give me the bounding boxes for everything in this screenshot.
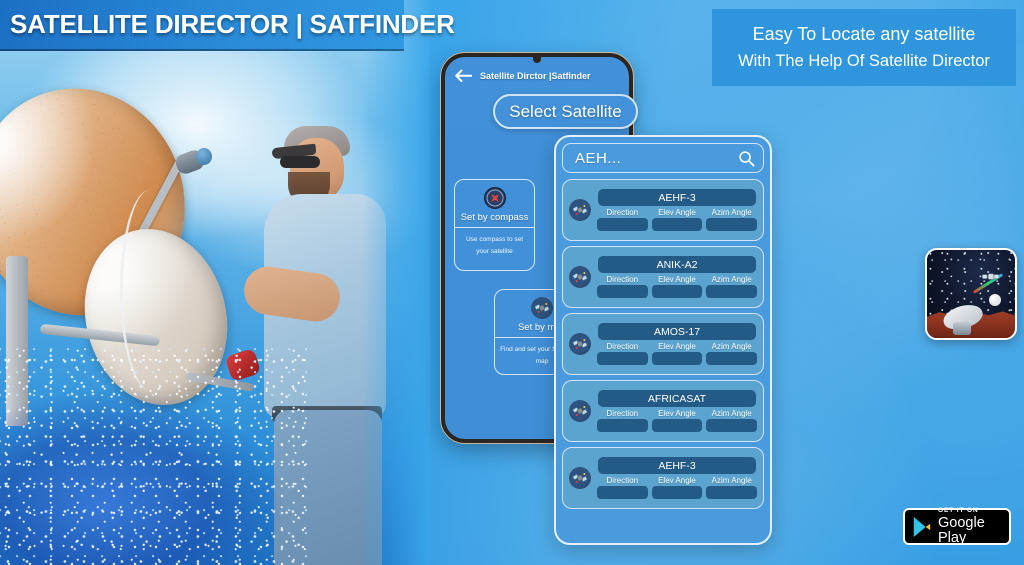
satellite-icon <box>981 270 1001 284</box>
sunglasses <box>280 156 320 168</box>
value-azim-angle <box>706 285 757 298</box>
value-elev-angle <box>652 352 703 365</box>
column-label-azim-angle: Azim Angle <box>706 476 757 485</box>
satellite-column-values <box>597 352 757 365</box>
google-play-icon <box>912 516 932 538</box>
column-label-elev-angle: Elev Angle <box>652 275 703 284</box>
app-icon-satellite-dish[interactable] <box>925 248 1017 340</box>
lnb-cap <box>196 148 212 165</box>
column-label-direction: Direction <box>597 342 648 351</box>
satellite-icon <box>569 266 591 288</box>
dish-base <box>953 322 971 335</box>
satellite-row-main: AFRICASAT Direction Elev Angle Azim Angl… <box>597 390 757 432</box>
satellite-column-labels: Direction Elev Angle Azim Angle <box>597 275 757 284</box>
photo-edge-fade <box>362 0 430 565</box>
satellite-name: ANIK-A2 <box>598 256 756 273</box>
value-elev-angle <box>652 486 703 499</box>
satellite-icon <box>569 400 591 422</box>
column-label-direction: Direction <box>597 275 648 284</box>
title-banner: SATELLITE DIRECTOR | SATFINDER <box>0 0 404 51</box>
satellite-column-values <box>597 486 757 499</box>
option-title-compass: Set by compass <box>455 209 534 228</box>
satellite-list: AEHF-3 Direction Elev Angle Azim Angle <box>562 179 764 509</box>
satellite-column-labels: Direction Elev Angle Azim Angle <box>597 409 757 418</box>
google-play-text: GET IT ON Google Play <box>938 508 1009 546</box>
column-label-azim-angle: Azim Angle <box>706 275 757 284</box>
value-azim-angle <box>706 486 757 499</box>
tagline-line-1: Easy To Locate any satellite <box>753 24 976 45</box>
satellite-icon <box>569 333 591 355</box>
satellite-row[interactable]: ANIK-A2 Direction Elev Angle Azim Angle <box>562 246 764 308</box>
moon-icon <box>989 294 1001 306</box>
compass-icon <box>484 187 506 209</box>
option-card-set-by-compass[interactable]: Set by compass Use compass to set your s… <box>454 179 535 271</box>
value-direction <box>597 486 648 499</box>
satellite-icon <box>569 199 591 221</box>
satellite-column-labels: Direction Elev Angle Azim Angle <box>597 476 757 485</box>
satellite-column-labels: Direction Elev Angle Azim Angle <box>597 208 757 217</box>
app-bar: Satellite Dirctor |Satfinder <box>445 63 629 89</box>
satellite-icon <box>569 467 591 489</box>
search-input[interactable]: AEH... <box>575 150 621 167</box>
tagline-line-2: With The Help Of Satellite Director <box>738 52 990 71</box>
satellite-name: AEHF-3 <box>598 189 756 206</box>
value-azim-angle <box>706 218 757 231</box>
page-title: SATELLITE DIRECTOR | SATFINDER <box>0 9 455 40</box>
option-desc-compass: Use compass to set your satellite <box>455 228 534 265</box>
column-label-azim-angle: Azim Angle <box>706 208 757 217</box>
back-arrow-icon[interactable] <box>454 69 472 83</box>
promo-banner-stage: SATELLITE DIRECTOR | SATFINDER Easy To L… <box>0 0 1024 565</box>
value-elev-angle <box>652 285 703 298</box>
value-direction <box>597 285 648 298</box>
app-bar-title: Satellite Dirctor |Satfinder <box>480 71 591 81</box>
hero-photo <box>0 0 430 565</box>
search-bar[interactable]: AEH... <box>562 143 764 173</box>
column-label-elev-angle: Elev Angle <box>652 342 703 351</box>
satellite-name: AMOS-17 <box>598 323 756 340</box>
column-label-azim-angle: Azim Angle <box>706 409 757 418</box>
value-azim-angle <box>706 352 757 365</box>
value-azim-angle <box>706 419 757 432</box>
column-label-direction: Direction <box>597 409 648 418</box>
value-direction <box>597 352 648 365</box>
google-play-small-text: GET IT ON <box>938 508 1009 515</box>
compass-icon-wrap <box>455 187 534 209</box>
satellite-column-labels: Direction Elev Angle Azim Angle <box>597 342 757 351</box>
value-direction <box>597 218 648 231</box>
google-play-big-text: Google Play <box>938 516 1009 545</box>
satellite-row[interactable]: AEHF-3 Direction Elev Angle Azim Angle <box>562 179 764 241</box>
satellite-row[interactable]: AEHF-3 Direction Elev Angle Azim Angle <box>562 447 764 509</box>
google-play-badge[interactable]: GET IT ON Google Play <box>903 508 1011 545</box>
satellite-row-main: AMOS-17 Direction Elev Angle Azim Angle <box>597 323 757 365</box>
column-label-elev-angle: Elev Angle <box>652 476 703 485</box>
satellite-row-main: AEHF-3 Direction Elev Angle Azim Angle <box>597 189 757 231</box>
value-direction <box>597 419 648 432</box>
satellite-row-main: AEHF-3 Direction Elev Angle Azim Angle <box>597 457 757 499</box>
satellite-row[interactable]: AFRICASAT Direction Elev Angle Azim Angl… <box>562 380 764 442</box>
column-label-elev-angle: Elev Angle <box>652 208 703 217</box>
satellite-column-values <box>597 218 757 231</box>
satellite-name: AEHF-3 <box>598 457 756 474</box>
column-label-azim-angle: Azim Angle <box>706 342 757 351</box>
satellite-row[interactable]: AMOS-17 Direction Elev Angle Azim Angle <box>562 313 764 375</box>
satellite-column-values <box>597 285 757 298</box>
column-label-elev-angle: Elev Angle <box>652 409 703 418</box>
satellite-list-panel: AEH... <box>554 135 772 545</box>
column-label-direction: Direction <box>597 208 648 217</box>
column-label-direction: Direction <box>597 476 648 485</box>
satellite-row-main: ANIK-A2 Direction Elev Angle Azim Angle <box>597 256 757 298</box>
satellite-column-values <box>597 419 757 432</box>
search-icon[interactable] <box>738 150 755 167</box>
tagline-box: Easy To Locate any satellite With The He… <box>712 9 1016 86</box>
select-satellite-button[interactable]: Select Satellite <box>493 94 638 129</box>
satellite-name: AFRICASAT <box>598 390 756 407</box>
starfield-overlay <box>0 345 310 565</box>
phone-notch <box>533 55 541 63</box>
satellite-icon <box>531 297 553 319</box>
value-elev-angle <box>652 218 703 231</box>
value-elev-angle <box>652 419 703 432</box>
